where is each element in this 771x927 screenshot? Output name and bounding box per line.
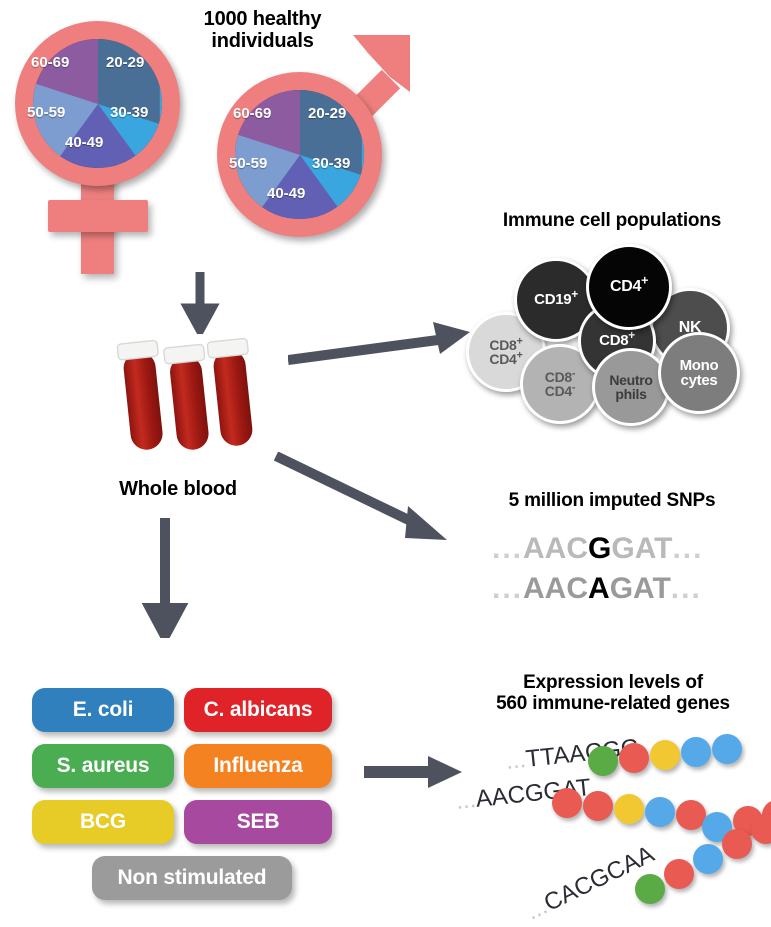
immune-cell-label: CD19+: [534, 292, 578, 307]
immune-cell-label: CD4+: [610, 279, 648, 295]
rna-strands-group: ...TTAACGG ...AACGGAT ...CACGCAA: [440, 730, 771, 920]
pie-label-50-59: 50-59: [27, 104, 65, 121]
pie-label-40-49: 40-49: [65, 134, 103, 151]
pie-label-30-39: 30-39: [312, 155, 350, 172]
immune-cell-label: CD8-CD4-: [545, 370, 575, 399]
snp-suffix: GAT: [610, 572, 671, 605]
immune-cell-cd4pos: CD4+: [586, 244, 672, 330]
snps-title: 5 million imputed SNPs: [462, 490, 762, 511]
rna-bead: [645, 797, 675, 827]
immune-cell-label: Neutrophils: [609, 373, 652, 402]
stimulus-chip-influenza[interactable]: Influenza: [184, 744, 332, 788]
rna-bead: [722, 829, 752, 859]
snp-prefix: AAC: [523, 532, 588, 565]
arrow-cohort-to-blood: [180, 272, 220, 334]
arrow-blood-to-immune: [288, 318, 473, 368]
stimulus-chip-e-coli[interactable]: E. coli: [32, 688, 174, 732]
blood-tube-1: [117, 340, 168, 452]
rna-strand-3: ...CACGCAA: [440, 826, 771, 916]
arrow-blood-to-stimuli: [140, 518, 190, 638]
snp-leading-ellipsis: ...: [492, 572, 523, 605]
rna-bead: [751, 814, 771, 844]
expression-title-line1: Expression levels of: [462, 672, 764, 693]
rna-leading-ellipsis: ...: [455, 786, 478, 815]
cohort-title-line1: 1000 healthy: [180, 8, 345, 30]
rna-bead: [614, 794, 644, 824]
pie-label-20-29: 20-29: [308, 105, 346, 122]
rna-bead: [681, 737, 711, 767]
whole-blood-tubes: [110, 340, 270, 460]
male-gender-symbol: 20-29 30-39 40-49 50-59 60-69: [205, 30, 420, 245]
stimulus-chip-c-albicans[interactable]: C. albicans: [184, 688, 332, 732]
immune-cell-label: CD8+CD4+: [489, 338, 522, 367]
rna-bead: [552, 788, 582, 818]
snp-variant-base: A: [588, 572, 610, 605]
pie-label-60-69: 60-69: [31, 54, 69, 71]
rna-bead: [664, 859, 694, 889]
female-symbol-stem-horizontal: [48, 200, 148, 232]
rna-bead: [583, 791, 613, 821]
blood-tube-2: [163, 344, 214, 452]
pie-label-30-39: 30-39: [110, 104, 148, 121]
rna-bead: [693, 844, 723, 874]
stimulus-chip-non-stimulated[interactable]: Non stimulated: [92, 856, 292, 900]
immune-cell-neutrophils: Neutrophils: [592, 348, 670, 426]
stimulus-chip-seb[interactable]: SEB: [184, 800, 332, 844]
stimulus-chip-s-aureus[interactable]: S. aureus: [32, 744, 174, 788]
snp-variant-base: G: [588, 532, 611, 565]
pie-label-20-29: 20-29: [106, 54, 144, 71]
snp-suffix: GAT: [611, 532, 672, 565]
female-gender-symbol: 20-29 30-39 40-49 50-59 60-69: [8, 14, 193, 274]
arrow-blood-to-snps: [272, 452, 462, 542]
immune-cell-label: CD8+: [599, 333, 635, 348]
snp-trailing-ellipsis: ...: [671, 572, 702, 605]
expression-title: Expression levels of 560 immune-related …: [462, 672, 764, 715]
snp-allele-1: ...AACGGAT...: [492, 532, 703, 566]
immune-cell-label: Monocytes: [680, 358, 719, 389]
pie-label-60-69: 60-69: [233, 105, 271, 122]
rna-bead: [635, 874, 665, 904]
expression-title-line2: 560 immune-related genes: [462, 693, 764, 714]
snp-allele-2: ...AACAGAT...: [492, 572, 702, 606]
pie-label-40-49: 40-49: [267, 185, 305, 202]
immune-cell-cluster: CD8+CD4+ CD19+ CD4+ NK CD8+ CD8-CD4- Neu…: [462, 240, 762, 415]
immune-populations-title: Immune cell populations: [462, 210, 762, 231]
stimulus-chip-bcg[interactable]: BCG: [32, 800, 174, 844]
blood-tube-3: [207, 338, 258, 448]
immune-cell-monocytes: Monocytes: [658, 332, 740, 414]
snp-prefix: AAC: [523, 572, 588, 605]
whole-blood-label: Whole blood: [88, 478, 268, 500]
snp-trailing-ellipsis: ...: [672, 532, 703, 565]
snp-leading-ellipsis: ...: [492, 532, 523, 565]
rna-bead: [712, 734, 742, 764]
pie-label-50-59: 50-59: [229, 155, 267, 172]
